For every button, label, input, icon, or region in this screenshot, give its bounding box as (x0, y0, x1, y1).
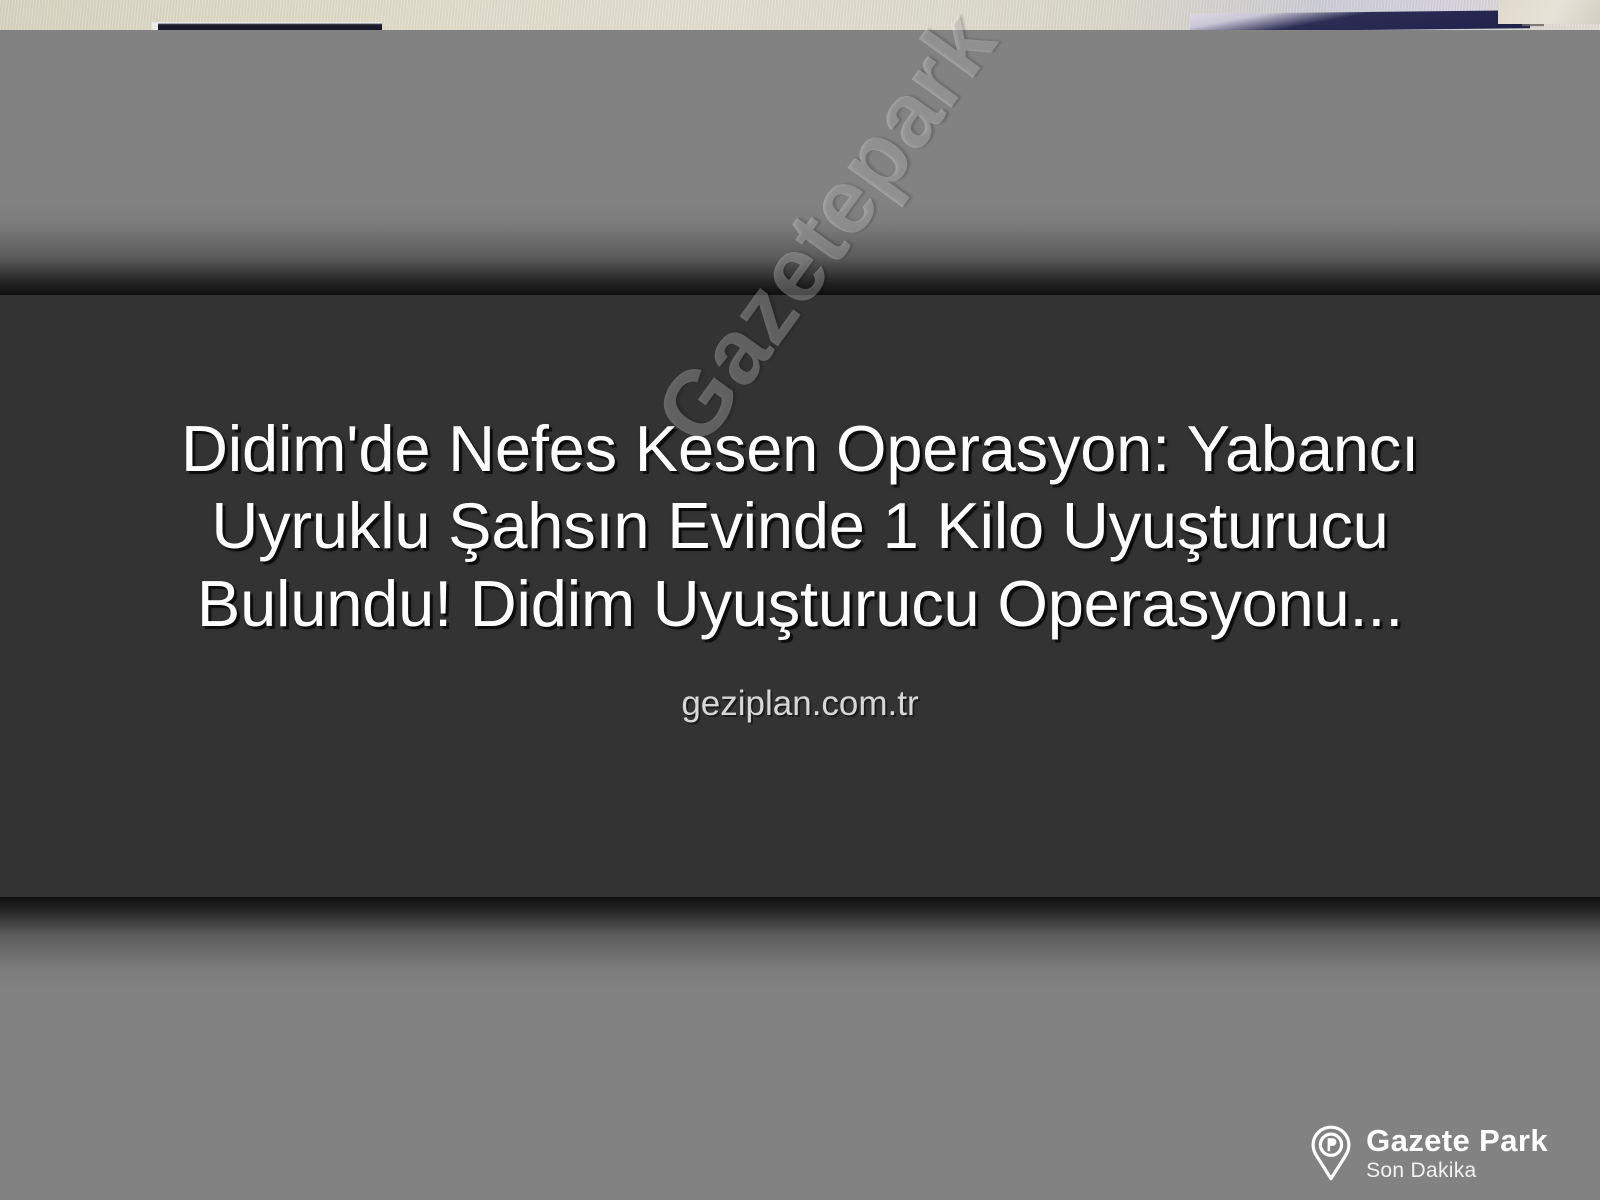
brand-logo-text: Gazete Park Son Dakika (1366, 1125, 1548, 1181)
brand-tagline: Son Dakika (1366, 1160, 1548, 1181)
brand-name: Gazete Park (1366, 1125, 1548, 1156)
news-card-image: Didim'de Nefes Kesen Operasyon: Yabancı … (0, 0, 1600, 1200)
photo-dark-object-right (1190, 10, 1530, 30)
map-pin-parking-icon (1308, 1124, 1354, 1182)
photo-corner-highlight (1498, 0, 1600, 24)
article-photo-strip (0, 0, 1600, 30)
source-site-label: geziplan.com.tr (681, 684, 918, 724)
headline-container: Didim'de Nefes Kesen Operasyon: Yabancı … (0, 295, 1600, 897)
gradient-overlay-bottom (0, 897, 1600, 992)
brand-logo: Gazete Park Son Dakika (1308, 1124, 1548, 1182)
photo-dark-object-left (152, 22, 382, 30)
page-title: Didim'de Nefes Kesen Operasyon: Yabancı … (145, 410, 1455, 642)
gradient-overlay-top (0, 200, 1600, 295)
